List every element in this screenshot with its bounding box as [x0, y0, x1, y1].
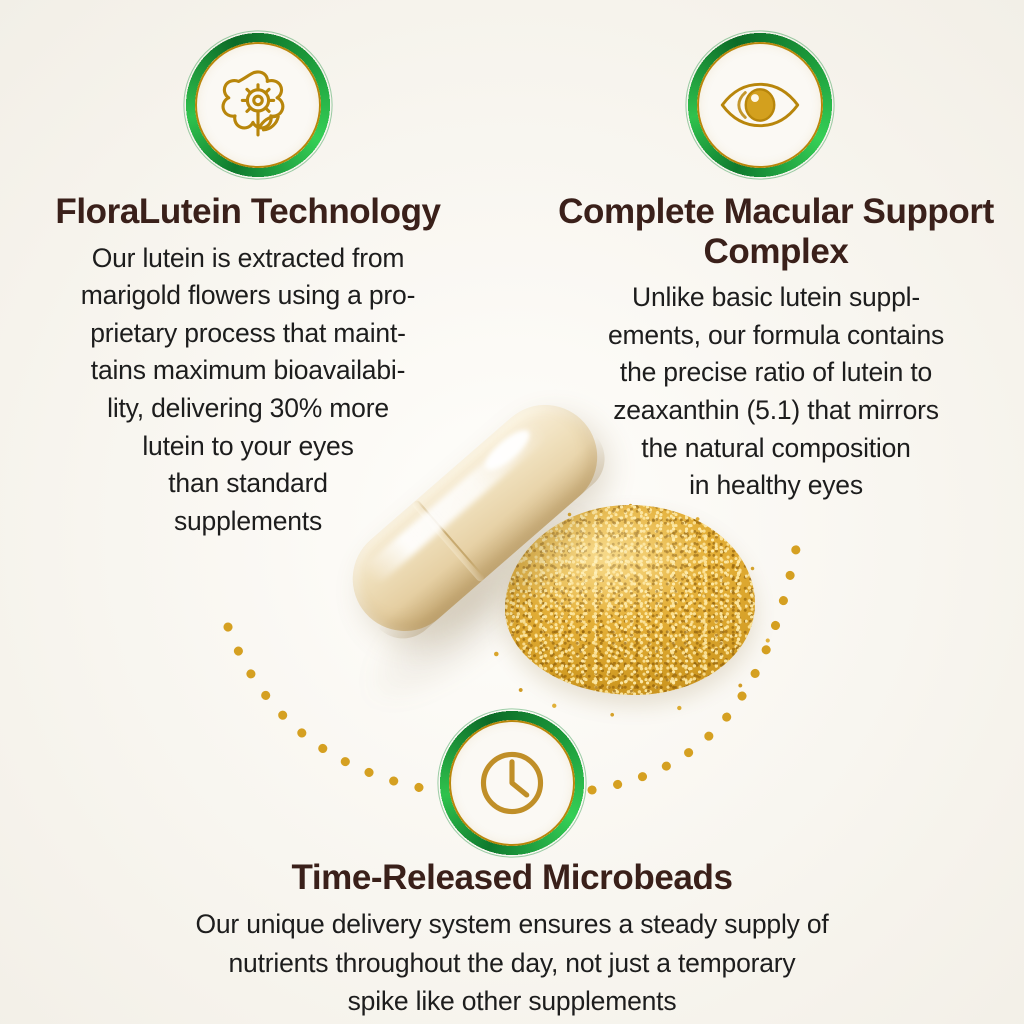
feature-right-body: Unlike basic lutein suppl- ements, our f… [546, 279, 1006, 505]
flower-icon [212, 59, 304, 151]
body-line: Unlike basic lutein suppl- [546, 279, 1006, 317]
body-line: Our unique delivery system ensures a ste… [60, 905, 964, 943]
badge-time-released[interactable] [438, 709, 586, 857]
body-line: than standard [18, 465, 478, 503]
heading-line-1: Complete Macular [558, 192, 853, 231]
infographic-canvas: FloraLutein Technology Our lutein is ext… [0, 0, 1024, 1024]
body-line: prietary process that maint- [18, 315, 478, 353]
heading-line-1: FloraLutein [55, 192, 241, 231]
body-line: spike like other supplements [60, 982, 964, 1020]
eye-icon [714, 59, 806, 151]
feature-bottom-heading: Time-Released Microbeads [60, 858, 964, 898]
feature-bottom-body: Our unique delivery system ensures a ste… [60, 905, 964, 1020]
body-line: Our lutein is extracted from [18, 240, 478, 278]
feature-left-body: Our lutein is extracted from marigold fl… [18, 240, 478, 541]
feature-right-heading: Complete Macular Support Complex [546, 192, 1006, 271]
feature-right: Complete Macular Support Complex Unlike … [546, 192, 1006, 505]
body-line: zeaxanthin (5.1) that mirrors [546, 392, 1006, 430]
clock-icon [466, 737, 558, 829]
heading-line-2: Technology [251, 192, 441, 231]
badge-flora-lutein[interactable] [184, 31, 332, 179]
body-line: tains maximum bioavailabi- [18, 352, 478, 390]
badge-macular-support[interactable] [686, 31, 834, 179]
body-line: lutein to your eyes [18, 428, 478, 466]
feature-bottom: Time-Released Microbeads Our unique deli… [60, 858, 964, 1021]
feature-left-heading: FloraLutein Technology [18, 192, 478, 232]
feature-left: FloraLutein Technology Our lutein is ext… [18, 192, 478, 541]
body-line: the precise ratio of lutein to [546, 354, 1006, 392]
body-line: in healthy eyes [546, 467, 1006, 505]
body-line: the natural composition [546, 430, 1006, 468]
body-line: lity, delivering 30% more [18, 390, 478, 428]
body-line: supplements [18, 503, 478, 541]
body-line: nutrients throughout the day, not just a… [60, 944, 964, 982]
body-line: marigold flowers using a pro- [18, 277, 478, 315]
body-line: ements, our formula contains [546, 317, 1006, 355]
